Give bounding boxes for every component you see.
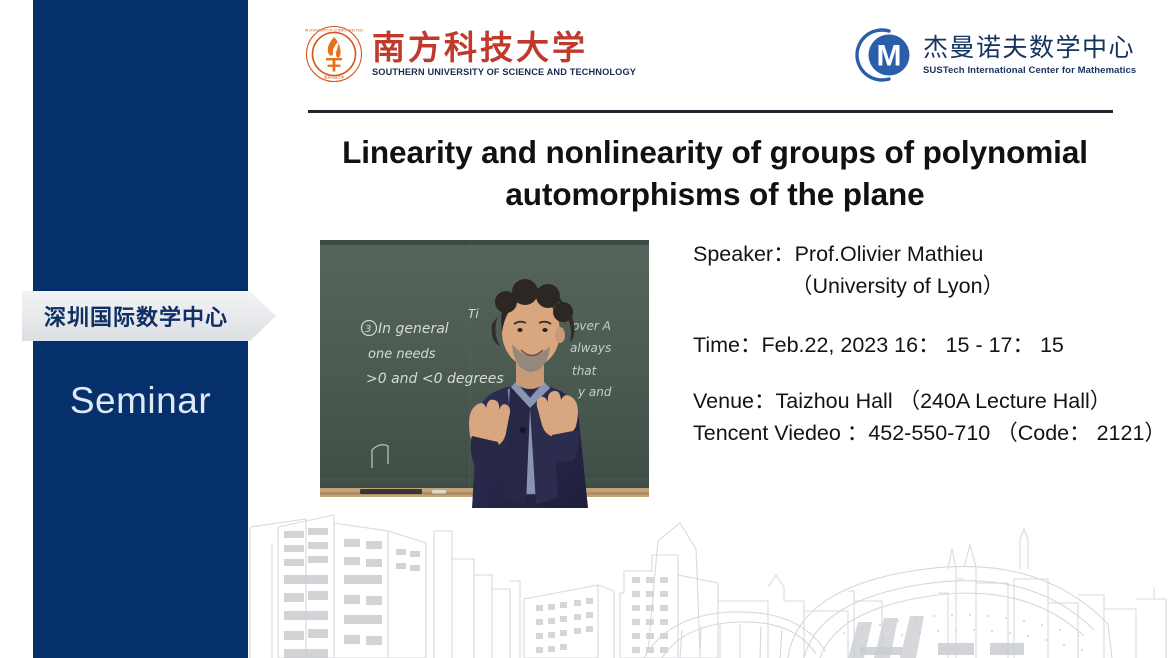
seminar-title: Linearity and nonlinearity of groups of … [300,132,1130,215]
sustech-emblem-icon: SOUTHERN UNIVERSITY OF SCIENCE AND TECHN… [305,25,363,83]
svg-text:that: that [572,364,598,378]
icm-wordmark: 杰曼诺夫数学中心 SUSTech International Center fo… [923,34,1136,76]
icm-chinese-name: 杰曼诺夫数学中心 [923,34,1136,62]
speaker-line: Speaker：Prof.Olivier Mathieu [693,240,1163,268]
svg-text:y and: y and [577,385,612,399]
svg-text:one needs: one needs [368,347,436,362]
sustech-english-name: SOUTHERN UNIVERSITY OF SCIENCE AND TECHN… [372,67,636,77]
seminar-details: Speaker：Prof.Olivier Mathieu （University… [693,240,1163,447]
speaker-affiliation: （University of Lyon） [693,272,1163,300]
svg-text:Ti: Ti [468,307,479,321]
city-skyline-watermark [248,483,1170,658]
sustech-icm-logo: M 杰曼诺夫数学中心 SUSTech International Center … [853,26,1136,84]
sidebar-category-label: Seminar [33,382,248,419]
svg-text:3: 3 [365,324,371,335]
venue-value: Taizhou Hall （240A Lecture Hall） [775,389,1111,413]
svg-text:南方科技大学: 南方科技大学 [324,75,345,80]
speaker-name: Prof.Olivier Mathieu [795,242,984,266]
svg-text:>0 and <0 degrees: >0 and <0 degrees [366,371,504,387]
venue-label: Venue： [693,389,775,413]
spacer [693,301,1163,331]
spacer [693,359,1163,387]
sustech-chinese-name: 南方科技大学 [372,31,636,66]
tencent-line: Tencent Viedeo ：452-550-710 （Code： 2121） [693,419,1163,447]
cm-monogram-icon: M [853,26,915,84]
header-divider [308,110,1113,113]
speaker-label: Speaker： [693,242,795,266]
time-value: Feb.22, 2023 16： 15 - 17： 15 [761,333,1063,357]
sustech-logo: SOUTHERN UNIVERSITY OF SCIENCE AND TECHN… [305,25,636,83]
venue-line: Venue：Taizhou Hall （240A Lecture Hall） [693,387,1163,415]
svg-text:SOUTHERN UNIVERSITY OF SCIENCE: SOUTHERN UNIVERSITY OF SCIENCE AND TECHN… [305,28,363,32]
svg-text:In general: In general [378,321,449,337]
banner-label: 深圳国际数学中心 [22,291,250,341]
svg-text:over A: over A [572,319,611,333]
seminar-poster: Seminar 深圳国际数学中心 SOUTHERN UNIVERSITY OF … [0,0,1170,658]
svg-text:M: M [877,40,902,73]
sustech-wordmark: 南方科技大学 SOUTHERN UNIVERSITY OF SCIENCE AN… [372,31,636,78]
speaker-photo: 3 In general one needs >0 and <0 degrees… [320,240,649,508]
svg-text:always: always [570,341,611,355]
tencent-label: Tencent Viedeo ： [693,421,868,445]
sidebar-banner: 深圳国际数学中心 [22,291,276,341]
tencent-value: 452-550-710 （Code： 2121） [868,421,1166,445]
time-label: Time： [693,333,761,357]
icm-english-name: SUSTech International Center for Mathema… [923,65,1136,76]
time-line: Time：Feb.22, 2023 16： 15 - 17： 15 [693,331,1163,359]
